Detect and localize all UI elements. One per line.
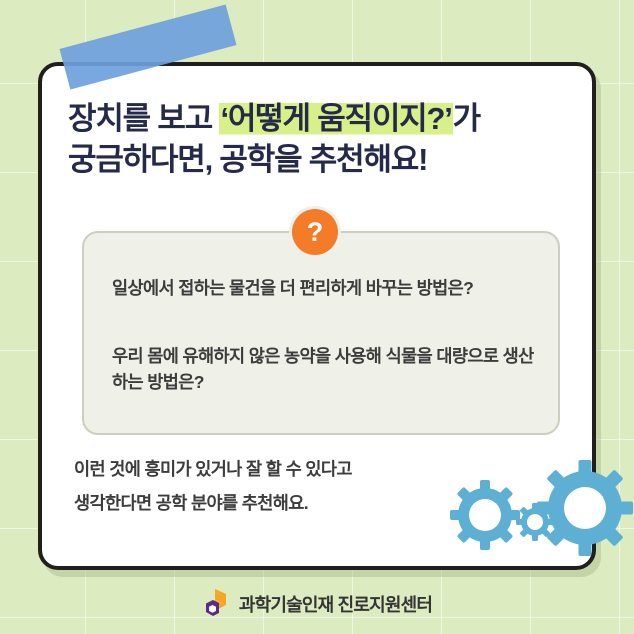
organization-name: 과학기술인재 진로지원센터 <box>239 591 432 617</box>
title-text-pre: 장치를 보고 <box>68 101 219 136</box>
question-box: 일상에서 접하는 물건을 더 편리하게 바꾸는 방법은? 우리 몸에 유해하지 … <box>82 231 560 435</box>
question-item-1: 일상에서 접하는 물건을 더 편리하게 바꾸는 방법은? <box>112 275 542 301</box>
title-highlight: ‘어떻게 움직이지?’ <box>219 101 452 136</box>
logo-svg <box>202 588 230 620</box>
page-title: 장치를 보고 ‘어떻게 움직이지?’가 궁금하다면, 공학을 추천해요! <box>68 98 578 180</box>
title-text-post: 가 <box>453 101 480 136</box>
title-line-1: 장치를 보고 ‘어떻게 움직이지?’가 <box>68 98 578 139</box>
organization-logo-icon <box>202 588 230 620</box>
closing-line-1: 이런 것에 흥미가 있거나 잘 할 수 있다고 <box>74 452 494 486</box>
closing-line-2: 생각한다면 공학 분야를 추천해요. <box>74 486 494 520</box>
closing-text: 이런 것에 흥미가 있거나 잘 할 수 있다고 생각한다면 공학 분야를 추천해… <box>74 452 494 520</box>
title-line-2: 궁금하다면, 공학을 추천해요! <box>68 139 578 180</box>
question-item-2: 우리 몸에 유해하지 않은 농약을 사용해 식물을 대량으로 생산하는 방법은? <box>112 343 542 395</box>
question-mark-badge: ? <box>292 209 338 255</box>
footer: 과학기술인재 진로지원센터 <box>0 583 634 625</box>
